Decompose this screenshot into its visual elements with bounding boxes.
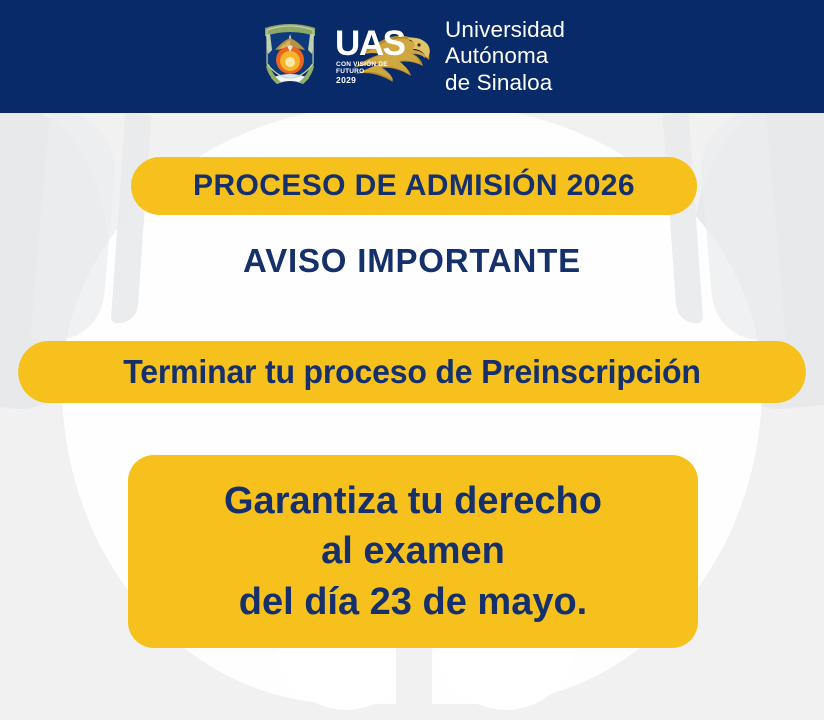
- uas-tagline-line1: CON VISIÓN DE: [336, 61, 388, 68]
- wordmark-line-1: Universidad: [445, 17, 565, 44]
- guarantee-line-3: del día 23 de mayo.: [239, 577, 587, 628]
- guarantee-line-1: Garantiza tu derecho: [224, 476, 602, 527]
- exam-guarantee-block: Garantiza tu derecho al examen del día 2…: [128, 455, 698, 648]
- guarantee-line-2: al examen: [321, 526, 505, 577]
- uas-tagline-line2: FUTURO: [336, 68, 388, 75]
- uas-lettermark: UAS CON VISIÓN DE FUTURO 2029: [335, 24, 431, 90]
- important-notice-heading: AVISO IMPORTANTE: [0, 242, 824, 280]
- university-logo-lockup: UAS CON VISIÓN DE FUTURO 2029 Universida…: [259, 17, 565, 97]
- admission-process-banner: PROCESO DE ADMISIÓN 2026: [131, 157, 697, 215]
- wordmark-line-2: Autónoma: [445, 43, 565, 70]
- university-wordmark: Universidad Autónoma de Sinaloa: [445, 17, 565, 97]
- uas-coat-of-arms-icon: [259, 20, 321, 94]
- admission-notice-poster: UAS CON VISIÓN DE FUTURO 2029 Universida…: [0, 0, 824, 720]
- uas-letters-text: UAS: [335, 26, 404, 61]
- finish-preregistration-banner: Terminar tu proceso de Preinscripción: [18, 341, 806, 403]
- uas-tagline: CON VISIÓN DE FUTURO 2029: [336, 61, 388, 85]
- wordmark-line-3: de Sinaloa: [445, 70, 565, 97]
- uas-tagline-year: 2029: [336, 76, 388, 85]
- university-header-band: UAS CON VISIÓN DE FUTURO 2029 Universida…: [0, 0, 824, 113]
